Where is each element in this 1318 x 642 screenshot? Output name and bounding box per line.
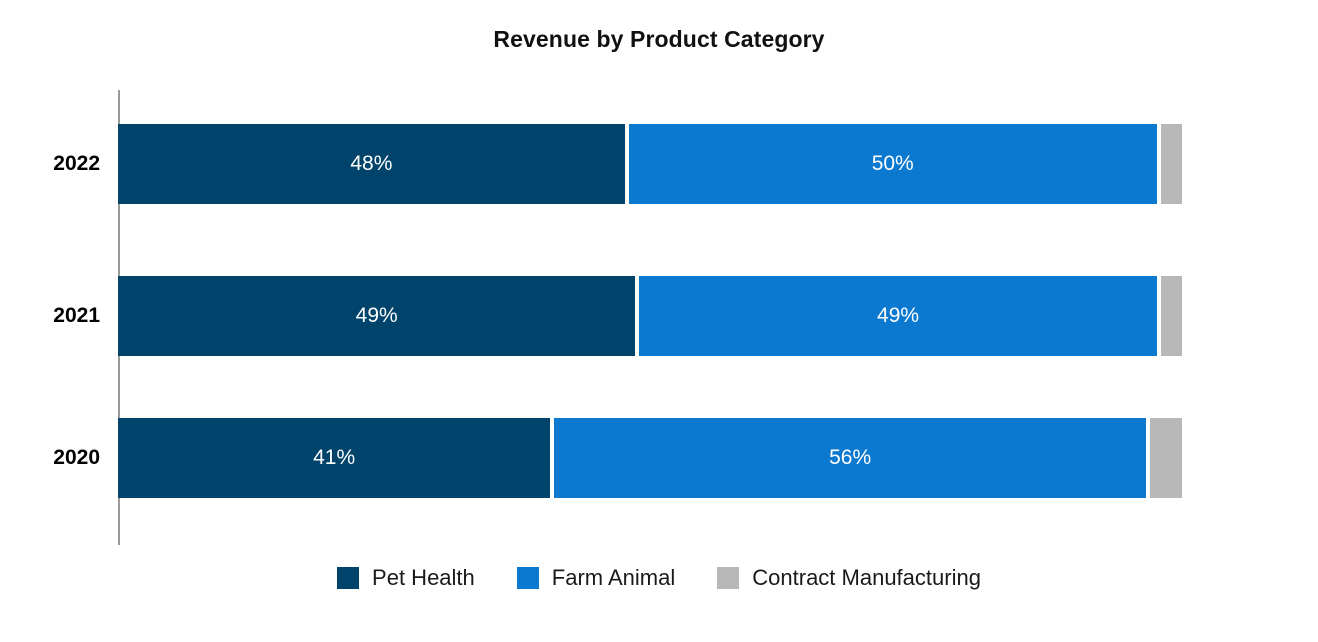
bar-segment-farm-animal-2022[interactable]: 50% — [629, 124, 1157, 204]
bar-segment-contract-manufacturing-2022[interactable] — [1161, 124, 1182, 204]
chart-legend: Pet HealthFarm AnimalContract Manufactur… — [0, 565, 1318, 591]
plot-area: 202248%50%202149%49%202041%56% — [0, 80, 1318, 550]
bar-segment-pet-health-2022[interactable]: 48% — [118, 124, 625, 204]
bar-track: 49%49% — [118, 276, 1182, 356]
bar-value-label: 48% — [350, 152, 392, 176]
category-label-2021: 2021 — [0, 276, 100, 356]
chart-title: Revenue by Product Category — [0, 26, 1318, 53]
legend-swatch-icon — [517, 567, 539, 589]
bar-row: 202248%50% — [0, 124, 1318, 204]
bar-value-label: 50% — [872, 152, 914, 176]
bar-track: 48%50% — [118, 124, 1182, 204]
bar-segment-contract-manufacturing-2021[interactable] — [1161, 276, 1182, 356]
legend-item-pet-health[interactable]: Pet Health — [337, 565, 475, 591]
bar-value-label: 56% — [829, 446, 871, 470]
legend-swatch-icon — [337, 567, 359, 589]
category-label-2022: 2022 — [0, 124, 100, 204]
bar-segment-farm-animal-2021[interactable]: 49% — [639, 276, 1156, 356]
legend-item-contract-manufacturing[interactable]: Contract Manufacturing — [717, 565, 981, 591]
bar-track: 41%56% — [118, 418, 1182, 498]
bar-segment-farm-animal-2020[interactable]: 56% — [554, 418, 1146, 498]
legend-item-farm-animal[interactable]: Farm Animal — [517, 565, 675, 591]
bar-segment-contract-manufacturing-2020[interactable] — [1150, 418, 1182, 498]
legend-label: Contract Manufacturing — [752, 565, 981, 591]
category-label-2020: 2020 — [0, 418, 100, 498]
bar-segment-pet-health-2020[interactable]: 41% — [118, 418, 550, 498]
legend-label: Pet Health — [372, 565, 475, 591]
chart-container: Revenue by Product Category 202248%50%20… — [0, 0, 1318, 642]
bar-value-label: 41% — [313, 446, 355, 470]
legend-swatch-icon — [717, 567, 739, 589]
bar-value-label: 49% — [356, 304, 398, 328]
bar-row: 202149%49% — [0, 276, 1318, 356]
legend-label: Farm Animal — [552, 565, 675, 591]
bar-value-label: 49% — [877, 304, 919, 328]
bar-row: 202041%56% — [0, 418, 1318, 498]
bar-segment-pet-health-2021[interactable]: 49% — [118, 276, 635, 356]
